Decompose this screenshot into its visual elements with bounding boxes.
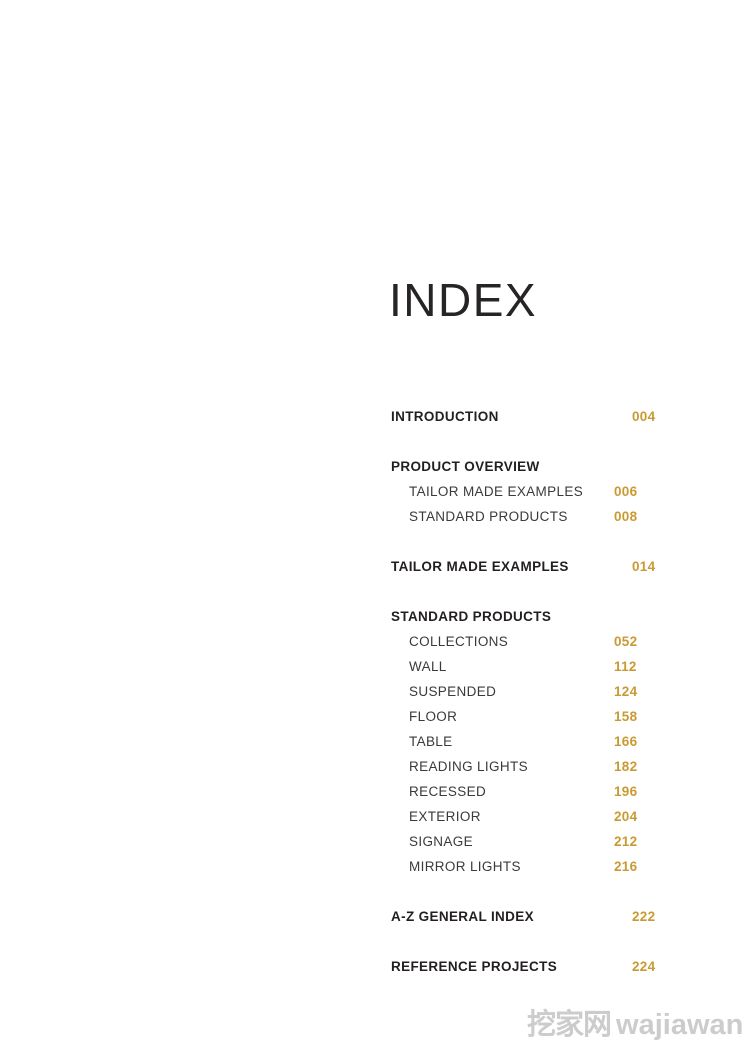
toc-group: TAILOR MADE EXAMPLES014 bbox=[391, 554, 691, 579]
toc-group: A-Z GENERAL INDEX222 bbox=[391, 904, 691, 929]
toc-page-number: 204 bbox=[614, 804, 637, 829]
toc-heading-row[interactable]: TAILOR MADE EXAMPLES014 bbox=[391, 554, 691, 579]
toc-subentry-row[interactable]: TABLE166 bbox=[391, 729, 691, 754]
toc-entry-label: STANDARD PRODUCTS bbox=[409, 504, 568, 529]
toc-entry-label: REFERENCE PROJECTS bbox=[391, 954, 557, 979]
toc-subentry-row[interactable]: WALL112 bbox=[391, 654, 691, 679]
toc-heading-row[interactable]: REFERENCE PROJECTS224 bbox=[391, 954, 691, 979]
toc-page-number: 216 bbox=[614, 854, 637, 879]
toc-page-number: 006 bbox=[614, 479, 637, 504]
toc-group: PRODUCT OVERVIEWTAILOR MADE EXAMPLES006S… bbox=[391, 454, 691, 529]
toc-entry-label: FLOOR bbox=[409, 704, 457, 729]
toc-entry-label: TAILOR MADE EXAMPLES bbox=[409, 479, 583, 504]
toc-page-number: 112 bbox=[614, 654, 637, 679]
toc-subentry-row[interactable]: EXTERIOR204 bbox=[391, 804, 691, 829]
toc-entry-label: TAILOR MADE EXAMPLES bbox=[391, 554, 569, 579]
toc-entry-label: EXTERIOR bbox=[409, 804, 481, 829]
toc-heading-row[interactable]: A-Z GENERAL INDEX222 bbox=[391, 904, 691, 929]
page-title: INDEX bbox=[389, 277, 537, 323]
toc-page-number: 166 bbox=[614, 729, 637, 754]
toc-entry-label: COLLECTIONS bbox=[409, 629, 508, 654]
toc-subentry-row[interactable]: STANDARD PRODUCTS008 bbox=[391, 504, 691, 529]
toc-entry-label: STANDARD PRODUCTS bbox=[391, 604, 551, 629]
watermark-domain-text: wajiawang.com bbox=[616, 1009, 744, 1041]
toc-page-number: 014 bbox=[632, 554, 655, 579]
toc-entry-label: READING LIGHTS bbox=[409, 754, 528, 779]
document-page: INDEX INTRODUCTION004PRODUCT OVERVIEWTAI… bbox=[0, 0, 744, 1052]
toc-group: REFERENCE PROJECTS224 bbox=[391, 954, 691, 979]
toc-entry-label: SIGNAGE bbox=[409, 829, 473, 854]
toc-subentry-row[interactable]: SUSPENDED124 bbox=[391, 679, 691, 704]
toc-entry-label: PRODUCT OVERVIEW bbox=[391, 454, 540, 479]
toc-page-number: 222 bbox=[632, 904, 655, 929]
toc-group: INTRODUCTION004 bbox=[391, 404, 691, 429]
watermark: 挖家网wajiawang.com bbox=[527, 1008, 744, 1042]
toc-entry-label: RECESSED bbox=[409, 779, 486, 804]
toc-subentry-row[interactable]: MIRROR LIGHTS216 bbox=[391, 854, 691, 879]
toc-heading-row[interactable]: STANDARD PRODUCTS bbox=[391, 604, 691, 629]
toc-page-number: 212 bbox=[614, 829, 637, 854]
table-of-contents: INTRODUCTION004PRODUCT OVERVIEWTAILOR MA… bbox=[391, 404, 691, 979]
toc-page-number: 224 bbox=[632, 954, 655, 979]
toc-subentry-row[interactable]: TAILOR MADE EXAMPLES006 bbox=[391, 479, 691, 504]
toc-page-number: 124 bbox=[614, 679, 637, 704]
toc-page-number: 196 bbox=[614, 779, 637, 804]
toc-entry-label: SUSPENDED bbox=[409, 679, 496, 704]
toc-subentry-row[interactable]: SIGNAGE212 bbox=[391, 829, 691, 854]
toc-entry-label: TABLE bbox=[409, 729, 453, 754]
watermark-chinese-text: 挖家网 bbox=[527, 1009, 611, 1041]
toc-page-number: 182 bbox=[614, 754, 637, 779]
toc-subentry-row[interactable]: COLLECTIONS052 bbox=[391, 629, 691, 654]
toc-subentry-row[interactable]: FLOOR158 bbox=[391, 704, 691, 729]
toc-entry-label: INTRODUCTION bbox=[391, 404, 499, 429]
toc-entry-label: MIRROR LIGHTS bbox=[409, 854, 521, 879]
toc-group: STANDARD PRODUCTSCOLLECTIONS052WALL112SU… bbox=[391, 604, 691, 879]
toc-page-number: 004 bbox=[632, 404, 655, 429]
toc-page-number: 008 bbox=[614, 504, 637, 529]
toc-entry-label: WALL bbox=[409, 654, 447, 679]
toc-page-number: 052 bbox=[614, 629, 637, 654]
toc-heading-row[interactable]: PRODUCT OVERVIEW bbox=[391, 454, 691, 479]
toc-subentry-row[interactable]: READING LIGHTS182 bbox=[391, 754, 691, 779]
toc-heading-row[interactable]: INTRODUCTION004 bbox=[391, 404, 691, 429]
toc-subentry-row[interactable]: RECESSED196 bbox=[391, 779, 691, 804]
toc-page-number: 158 bbox=[614, 704, 637, 729]
toc-entry-label: A-Z GENERAL INDEX bbox=[391, 904, 534, 929]
